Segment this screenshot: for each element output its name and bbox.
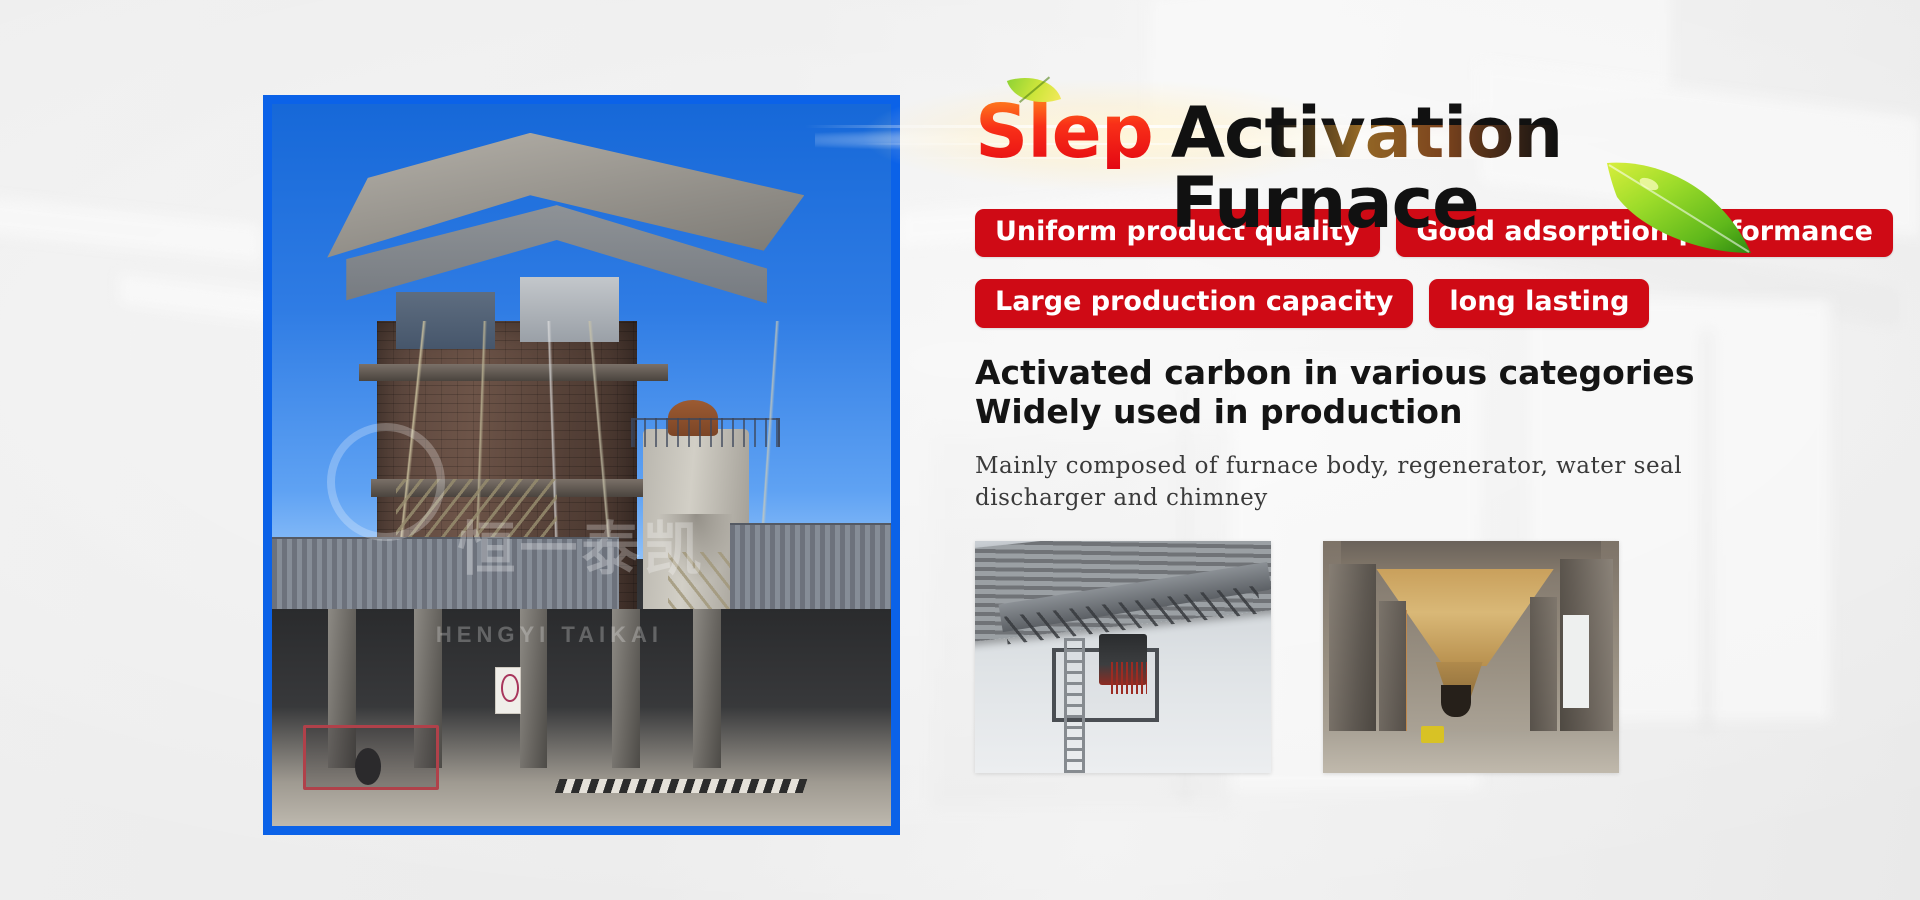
headline: Activated carbon in various categories W… [975, 354, 1775, 432]
banner-content: Slep Activation Furnace Uniform product … [975, 95, 1775, 773]
page-title: Activation Furnace [1171, 98, 1775, 238]
hero-product-photo[interactable]: 恒一泰凯 HENGYI TAIKAI [263, 95, 900, 835]
brand-logo-text: Slep [975, 95, 1153, 169]
feature-badge[interactable]: Large production capacity [975, 279, 1413, 327]
thumb2-daylight [1563, 615, 1590, 708]
brand-name: Slep [975, 89, 1153, 175]
photo-base-structure [272, 609, 891, 826]
banner-title-row: Slep Activation Furnace [975, 95, 1775, 187]
photo-column [520, 609, 548, 768]
photo-column [693, 609, 721, 768]
feature-badge-row-2: Large production capacity long lasting [975, 279, 1775, 327]
photo-red-cart [303, 725, 439, 790]
banner-stage: 恒一泰凯 HENGYI TAIKAI Slep Activation Furna… [0, 0, 1920, 900]
thumbnail-row [975, 541, 1775, 773]
thumb1-red-cables [1111, 662, 1147, 694]
thumb2-column [1379, 601, 1406, 745]
thumb2-column [1530, 597, 1557, 745]
thumb2-dark-cone [1441, 685, 1471, 717]
headline-line-1: Activated carbon in various categories [975, 354, 1775, 393]
thumb1-ladder [1064, 638, 1085, 773]
headline-line-2: Widely used in production [975, 393, 1775, 432]
photo-warning-sign [495, 667, 521, 714]
thumb2-equipment [1421, 726, 1445, 742]
photo-hazard-curb [554, 779, 806, 793]
thumbnail-crane-hoist[interactable] [975, 541, 1271, 773]
description-text: Mainly composed of furnace body, regener… [975, 450, 1715, 515]
thumb2-floor [1323, 731, 1619, 773]
thumb2-column [1329, 564, 1376, 754]
thumbnail-hopper-corridor[interactable] [1323, 541, 1619, 773]
photo-column [612, 609, 640, 768]
feature-badge[interactable]: long lasting [1429, 279, 1649, 327]
